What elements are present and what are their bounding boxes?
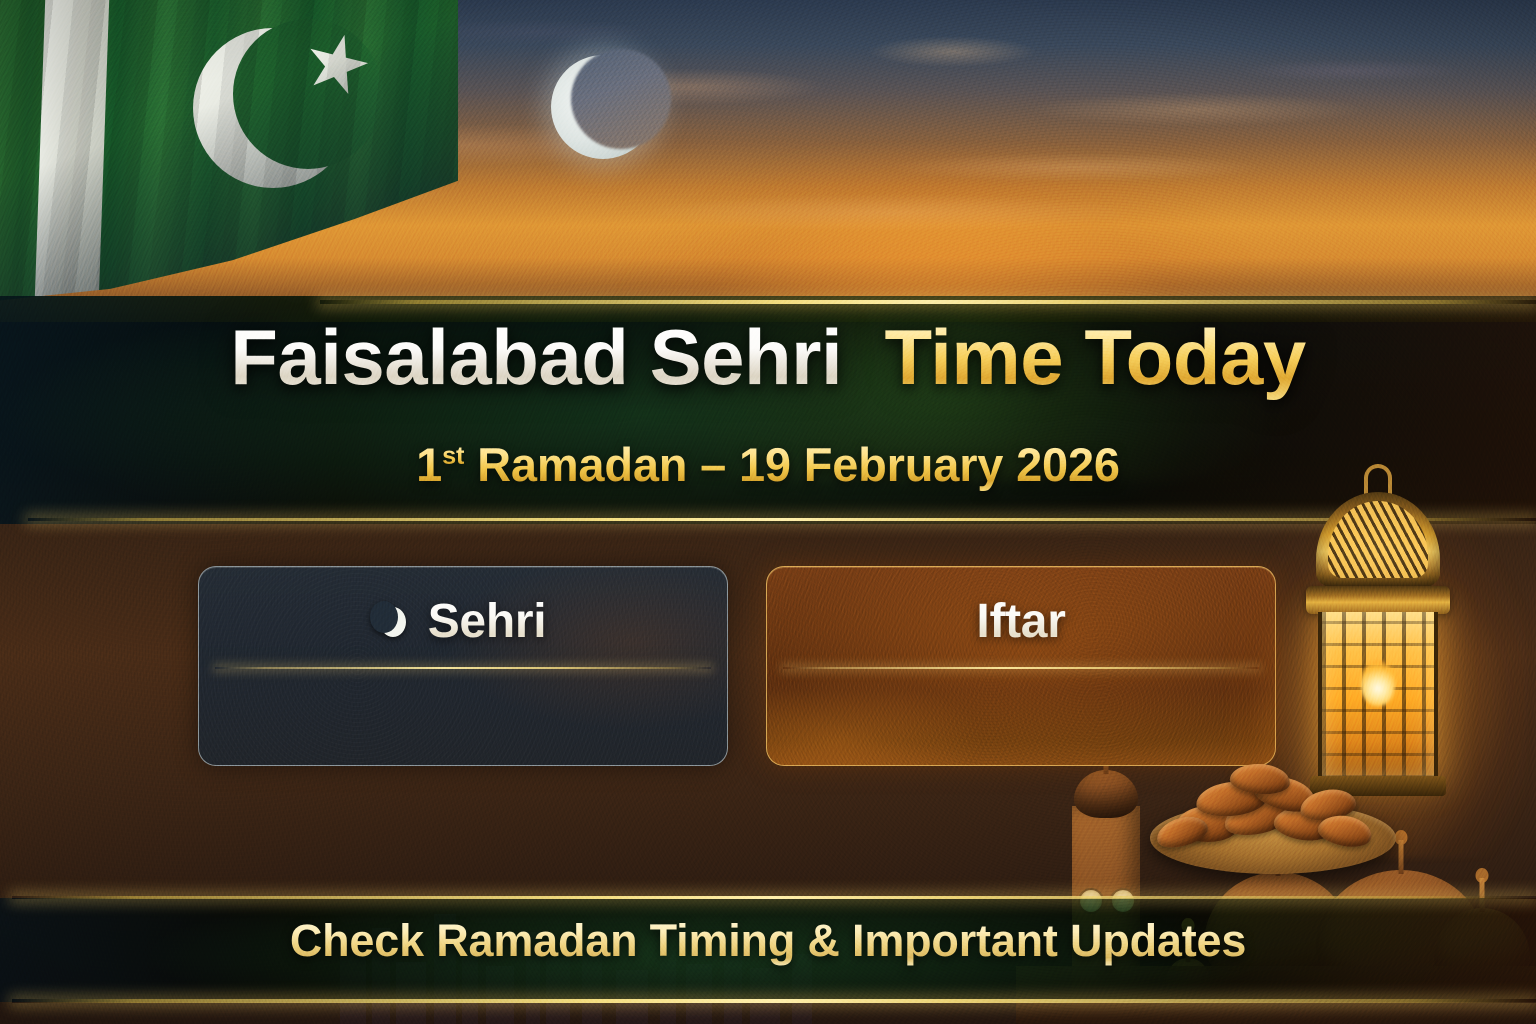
background-noise-overlay <box>0 0 1536 1024</box>
ramadan-timing-poster: Faisalabad Sehri Time Today 1st Ramadan … <box>0 0 1536 1024</box>
